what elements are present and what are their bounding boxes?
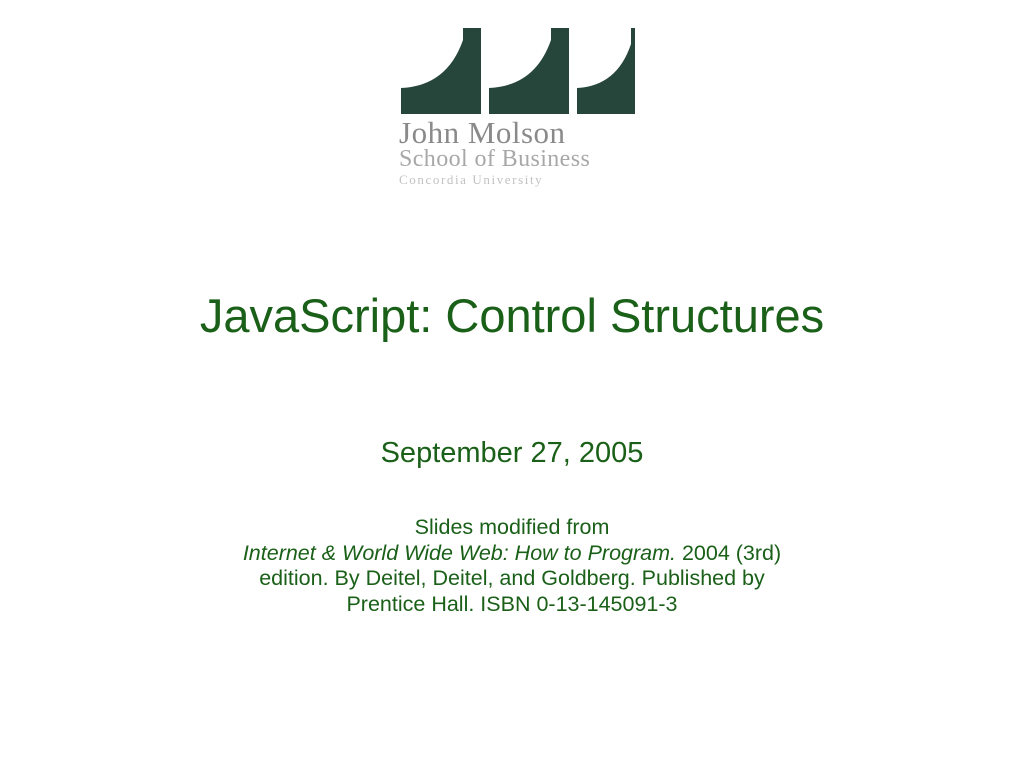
presentation-slide: John Molson School of Business Concordia… bbox=[0, 0, 1024, 768]
slide-date: September 27, 2005 bbox=[0, 435, 1024, 471]
logo-university-name: Concordia University bbox=[399, 172, 543, 187]
logo-school-subtitle: School of Business bbox=[399, 147, 590, 172]
book-title: Internet & World Wide Web: How to Progra… bbox=[243, 541, 676, 565]
jm-monogram-icon bbox=[389, 26, 635, 116]
attribution-line-4: Prentice Hall. ISBN 0-13-145091-3 bbox=[0, 592, 1024, 618]
logo-school-name: John Molson bbox=[399, 117, 566, 148]
attribution-block: Slides modified from Internet & World Wi… bbox=[0, 515, 1024, 617]
attribution-line-1: Slides modified from bbox=[0, 515, 1024, 541]
attribution-line-2: Internet & World Wide Web: How to Progra… bbox=[0, 541, 1024, 567]
book-edition-year: 2004 (3rd) bbox=[676, 541, 781, 565]
logo-wordmark: John Molson School of Business Concordia… bbox=[389, 117, 635, 187]
slide-title: JavaScript: Control Structures bbox=[0, 288, 1024, 344]
john-molson-school-of-business-logo: John Molson School of Business Concordia… bbox=[0, 26, 1024, 187]
attribution-line-3: edition. By Deitel, Deitel, and Goldberg… bbox=[0, 566, 1024, 592]
